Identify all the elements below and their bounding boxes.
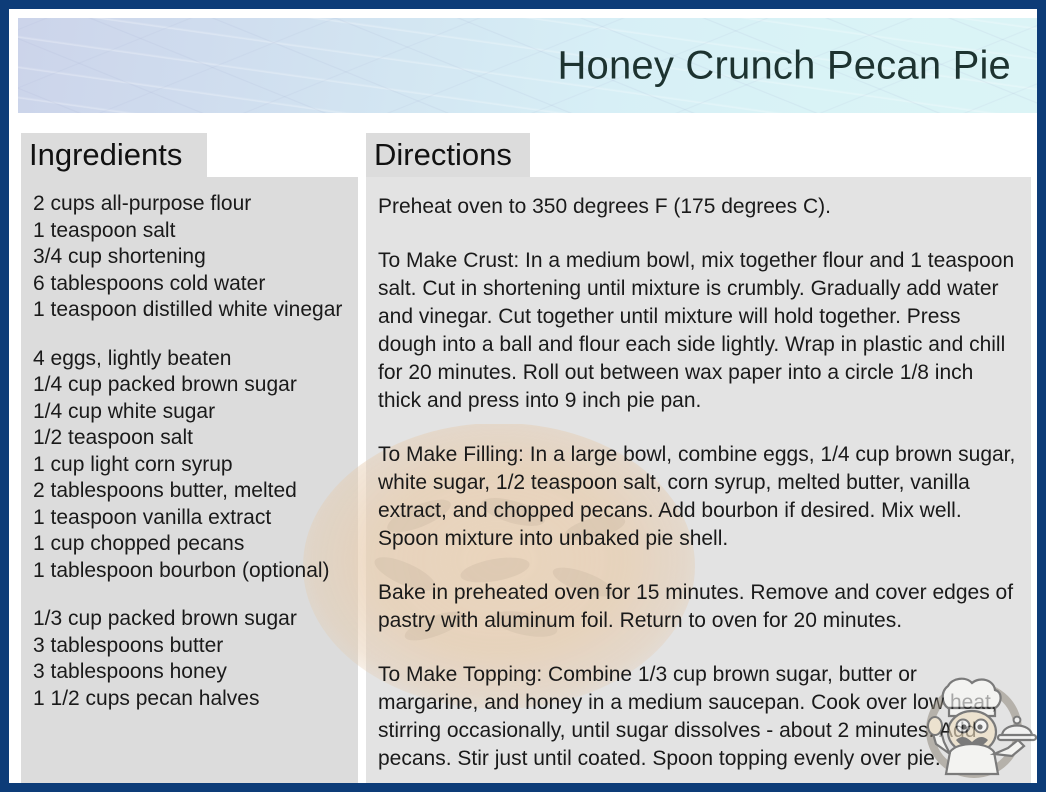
ingredients-list: 2 cups all-purpose flour 1 teaspoon salt… — [21, 177, 358, 712]
ingredient-group-crust: 2 cups all-purpose flour 1 teaspoon salt… — [33, 191, 348, 324]
ingredient-item: 2 tablespoons butter, melted — [33, 478, 348, 505]
tab-directions: Directions — [366, 133, 530, 177]
tab-ingredients: Ingredients — [21, 133, 207, 177]
ingredient-item: 1/4 cup white sugar — [33, 399, 348, 426]
ingredient-item: 1 cup chopped pecans — [33, 531, 348, 558]
ingredient-item: 2 cups all-purpose flour — [33, 191, 348, 218]
recipe-card: Honey Crunch Pecan Pie Ingredients Direc… — [0, 0, 1046, 792]
ingredient-item: 1/4 cup packed brown sugar — [33, 372, 348, 399]
direction-paragraph: Bake in preheated oven for 15 minutes. R… — [378, 579, 1017, 635]
direction-paragraph: To Make Topping: Combine 1/3 cup brown s… — [378, 661, 1017, 773]
directions-list: Preheat oven to 350 degrees F (175 degre… — [366, 177, 1031, 792]
direction-paragraph: Preheat oven to 350 degrees F (175 degre… — [378, 193, 1017, 221]
header-banner: Honey Crunch Pecan Pie — [18, 18, 1037, 113]
ingredient-item: 3/4 cup shortening — [33, 244, 348, 271]
ingredient-item: 1 1/2 cups pecan halves — [33, 686, 348, 713]
ingredient-item: 1 cup light corn syrup — [33, 452, 348, 479]
ingredient-item: 1/3 cup packed brown sugar — [33, 606, 348, 633]
ingredient-item: 1 teaspoon salt — [33, 218, 348, 245]
ingredient-item: 4 eggs, lightly beaten — [33, 346, 348, 373]
directions-panel: Preheat oven to 350 degrees F (175 degre… — [366, 177, 1031, 792]
direction-paragraph: To Make Filling: In a large bowl, combin… — [378, 441, 1017, 553]
ingredient-item: 6 tablespoons cold water — [33, 271, 348, 298]
ingredient-item: 1 teaspoon distilled white vinegar — [33, 297, 348, 324]
ingredient-item: 1/2 teaspoon salt — [33, 425, 348, 452]
recipe-title: Honey Crunch Pecan Pie — [557, 43, 1011, 88]
direction-paragraph: To Make Crust: In a medium bowl, mix tog… — [378, 247, 1017, 415]
directions-heading: Directions — [374, 137, 512, 173]
ingredients-heading: Ingredients — [29, 137, 182, 173]
ingredient-item: 1 tablespoon bourbon (optional) — [33, 558, 348, 585]
ingredient-item: 3 tablespoons butter — [33, 633, 348, 660]
ingredient-item: 1 teaspoon vanilla extract — [33, 505, 348, 532]
ingredient-item: 3 tablespoons honey — [33, 659, 348, 686]
ingredient-group-filling: 4 eggs, lightly beaten 1/4 cup packed br… — [33, 346, 348, 585]
ingredient-group-topping: 1/3 cup packed brown sugar 3 tablespoons… — [33, 606, 348, 712]
ingredients-panel: 2 cups all-purpose flour 1 teaspoon salt… — [21, 177, 358, 792]
